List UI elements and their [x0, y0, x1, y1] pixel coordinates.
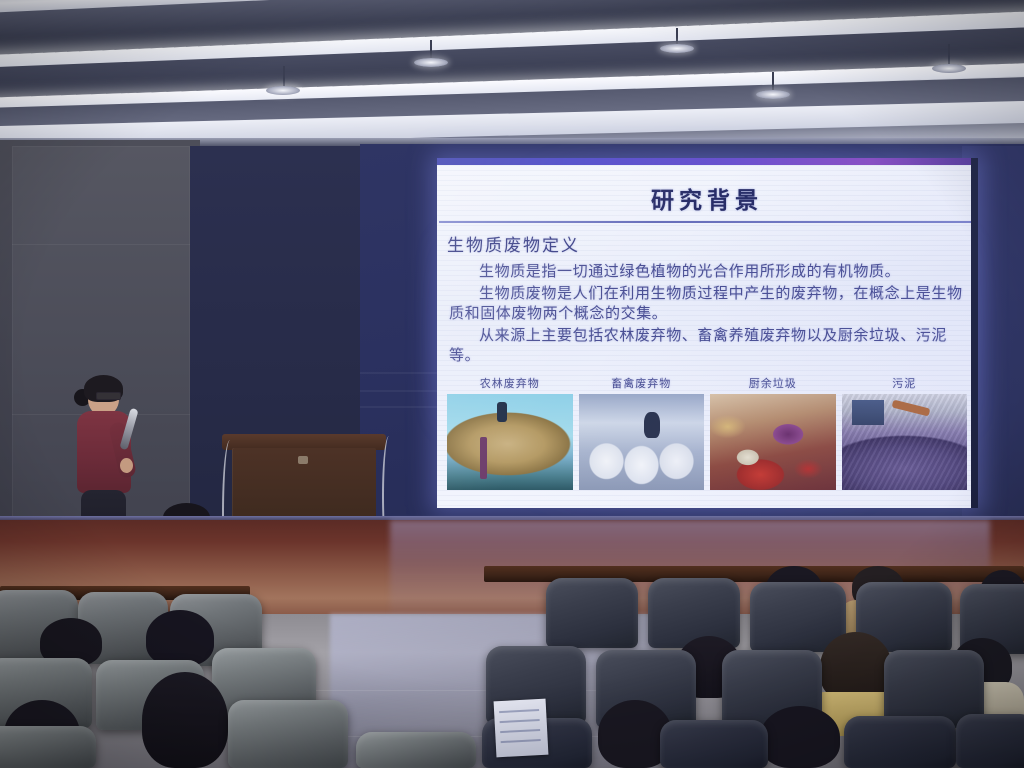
ceiling-beam — [0, 0, 1024, 70]
wall-seam — [12, 244, 190, 245]
ceiling-light-strip — [0, 0, 1024, 20]
ceiling-spot-light — [414, 58, 448, 67]
paper-line — [500, 719, 540, 723]
auditorium-seat[interactable] — [844, 716, 956, 768]
lectern-knob — [298, 456, 308, 464]
screen-right-frame — [971, 158, 978, 508]
audience-head — [142, 672, 228, 768]
auditorium-seat[interactable] — [956, 714, 1024, 768]
figure-caption-row: 农林废弃物 畜禽废弃物 厨余垃圾 污泥 — [447, 375, 967, 391]
paper-sheet — [494, 699, 549, 758]
presenter-hand — [120, 458, 133, 473]
food-waste-photo — [710, 394, 836, 490]
presentation-slide: 研究背景 生物质废物定义 生物质是指一切通过绿色植物的光合作用所形成的有机物质。… — [437, 165, 977, 508]
auditorium-seat[interactable] — [648, 578, 740, 648]
light-stem — [948, 44, 950, 66]
auditorium-seat[interactable] — [228, 700, 348, 768]
lecture-hall-scene: 研究背景 生物质废物定义 生物质是指一切通过绿色植物的光合作用所形成的有机物质。… — [0, 0, 1024, 768]
auditorium-seat[interactable] — [0, 726, 96, 768]
title-divider — [439, 221, 975, 223]
ceiling-spot-light — [266, 86, 300, 95]
light-stem — [772, 72, 774, 92]
slide-paragraph: 生物质是指一切通过绿色植物的光合作用所形成的有机物质。 — [449, 262, 965, 282]
figure-photo-row — [447, 394, 967, 490]
figure-caption: 污泥 — [842, 375, 968, 391]
figure-caption: 畜禽废弃物 — [579, 375, 705, 391]
ceiling-light-strip — [0, 7, 1024, 74]
paper-line — [499, 709, 539, 713]
ceiling-spot-light — [660, 44, 694, 53]
goat-herd-photo — [579, 394, 705, 490]
paper-line — [500, 729, 540, 733]
straw-cart-photo — [447, 394, 573, 490]
ceiling — [0, 0, 1024, 152]
ceiling-spot-light — [932, 64, 966, 73]
sludge-pile-photo — [842, 394, 968, 490]
paper-line — [501, 739, 541, 743]
projection-screen: 研究背景 生物质废物定义 生物质是指一切通过绿色植物的光合作用所形成的有机物质。… — [437, 158, 977, 508]
auditorium-seat[interactable] — [356, 732, 476, 768]
ceiling-beam — [0, 24, 1024, 110]
figure-caption: 农林废弃物 — [447, 375, 573, 391]
slide-body-text: 生物质是指一切通过绿色植物的光合作用所形成的有机物质。 生物质废物是人们在利用生… — [437, 258, 977, 366]
ceiling-beam — [0, 74, 1024, 140]
glasses-icon — [96, 392, 121, 400]
light-stem — [283, 66, 285, 88]
slide-paragraph: 从来源上主要包括农林废弃物、畜禽养殖废弃物以及厨余垃圾、污泥等。 — [449, 326, 965, 366]
auditorium-seat[interactable] — [546, 578, 638, 648]
auditorium-seat[interactable] — [660, 720, 768, 768]
audience-head — [146, 610, 214, 666]
ceiling-spot-light — [756, 90, 790, 99]
audience-head — [760, 706, 840, 768]
slide-paragraph: 生物质废物是人们在利用生物质过程中产生的废弃物，在概念上是生物质和固体废物两个概… — [449, 284, 965, 324]
light-stem — [430, 40, 432, 60]
ceiling-light-strip — [0, 60, 1024, 113]
slide-top-band — [437, 158, 977, 165]
slide-subtitle: 生物质废物定义 — [437, 223, 977, 258]
figure-caption: 厨余垃圾 — [710, 375, 836, 391]
slide-title: 研究背景 — [437, 165, 977, 221]
